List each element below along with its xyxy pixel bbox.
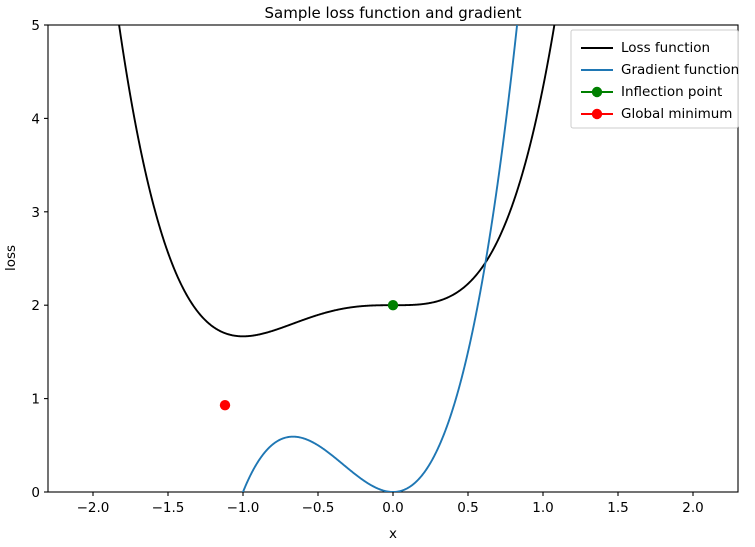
series-layer: [87, 0, 589, 547]
y-axis-title: loss: [3, 245, 19, 271]
legend-marker: [592, 87, 602, 97]
y-tick-label: 0: [31, 485, 40, 501]
x-tick-label: 0.5: [457, 500, 478, 516]
x-tick-label: −0.5: [302, 500, 335, 516]
marker-global-minimum: [220, 400, 230, 410]
chart-figure: Sample loss function and gradient −2.0−1…: [0, 0, 755, 547]
y-tick-label: 4: [31, 111, 40, 127]
y-tick-label: 5: [31, 18, 40, 34]
x-tick-label: 1.5: [607, 500, 628, 516]
legend-label: Inflection point: [621, 84, 722, 100]
x-axis-ticks: −2.0−1.5−1.0−0.50.00.51.01.52.0: [77, 492, 704, 516]
plot-content: [87, 0, 589, 547]
x-axis-title: x: [389, 526, 397, 542]
y-axis-ticks: 012345: [31, 18, 48, 501]
legend-label: Global minimum: [621, 106, 732, 122]
x-tick-label: 1.0: [532, 500, 553, 516]
y-tick-label: 3: [31, 205, 40, 221]
x-tick-label: −1.0: [227, 500, 260, 516]
chart-legend: Loss functionGradient functionInflection…: [571, 30, 739, 128]
chart-title: Sample loss function and gradient: [265, 4, 522, 22]
x-tick-label: 2.0: [682, 500, 703, 516]
legend-marker: [592, 109, 602, 119]
marker-inflection-point: [388, 300, 398, 310]
y-tick-label: 2: [31, 298, 40, 314]
series-gradient-function: [199, 0, 543, 547]
x-tick-label: −2.0: [77, 500, 110, 516]
legend-label: Gradient function: [621, 62, 739, 78]
legend-label: Loss function: [621, 40, 710, 56]
marker-layer: [220, 300, 398, 410]
x-tick-label: −1.5: [152, 500, 185, 516]
x-tick-label: 0.0: [382, 500, 403, 516]
plot-canvas: Sample loss function and gradient −2.0−1…: [0, 0, 755, 547]
y-tick-label: 1: [31, 392, 40, 408]
